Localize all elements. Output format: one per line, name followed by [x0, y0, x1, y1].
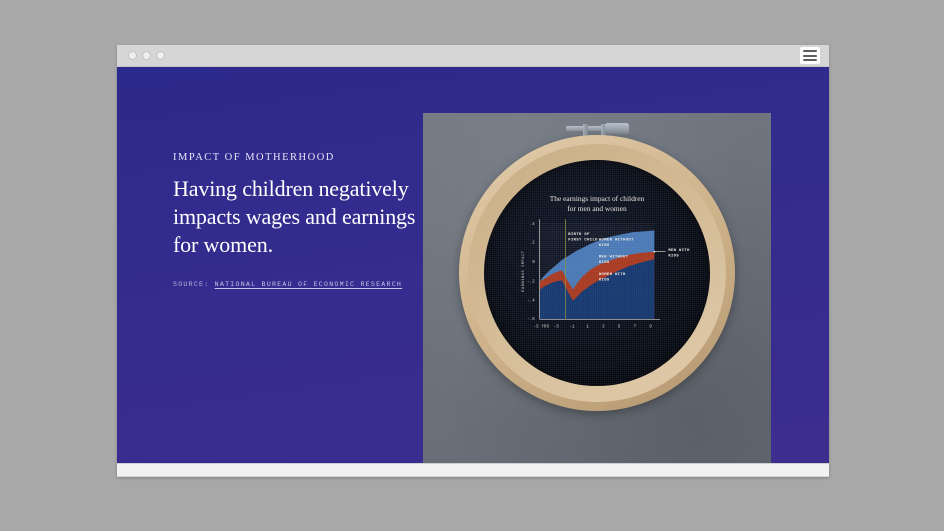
close-icon[interactable] [128, 51, 137, 60]
annotation-women-without-kids-line1: WOMEN WITHOUT [599, 239, 634, 243]
x-tick-label: -3 [554, 326, 560, 330]
y-tick-label: -.2 [527, 280, 535, 284]
y-tick-label: -.4 [527, 300, 535, 304]
x-tick-label: 5 [618, 326, 621, 330]
slide-canvas: IMPACT OF MOTHERHOOD Having children neg… [117, 67, 829, 463]
embroidery-photo: The earnings impact of children for men … [423, 113, 771, 463]
annotation-birth-of-first-child-line2: FIRST CHILD [568, 239, 598, 243]
browser-toolbar [117, 45, 829, 67]
annotation-women-with-kids-line1: WOMEN WITH [599, 273, 626, 277]
x-tick-label: -1 [569, 326, 575, 330]
x-tick-label: 3 [602, 326, 605, 330]
chart-plot-area [540, 223, 655, 319]
window-controls [128, 51, 165, 60]
earnings-impact-chart: .4 .2 0 -.2 -.4 -.6 EARNINGS IMPACT -5 Y… [484, 160, 710, 386]
cross-stitch-fabric: The earnings impact of children for men … [484, 160, 710, 386]
hoop-screw [605, 123, 629, 134]
annotation-birth-of-first-child-line1: BIRTH OF [568, 233, 590, 237]
source-link[interactable]: NATIONAL BUREAU OF ECONOMIC RESEARCH [215, 281, 402, 288]
y-tick-label: .4 [530, 223, 536, 227]
slide-eyebrow: IMPACT OF MOTHERHOOD [173, 152, 418, 163]
embroidery-hoop-ring: The earnings impact of children for men … [459, 135, 735, 411]
maximize-icon[interactable] [156, 51, 165, 60]
hamburger-line [803, 50, 817, 52]
y-tick-label: 0 [532, 261, 535, 265]
embroidery-hoop-inner-ring: The earnings impact of children for men … [468, 144, 726, 402]
annotation-men-with-kids-line1: MEN WITH [668, 249, 690, 253]
hamburger-menu-icon[interactable] [800, 47, 820, 64]
stitch-texture [540, 223, 655, 319]
browser-footer-bar [117, 463, 829, 476]
page-title: Having children negatively impacts wages… [173, 175, 418, 259]
annotation-men-without-kids-line1: MEN WITHOUT [599, 255, 629, 259]
x-tick-label: -5 YRS [534, 326, 550, 330]
hamburger-line [803, 55, 817, 57]
annotation-men-without-kids-line2: KIDS [599, 261, 610, 265]
y-tick-label: .2 [530, 241, 536, 245]
source-prefix: SOURCE: [173, 281, 209, 288]
y-axis-label: EARNINGS IMPACT [522, 251, 526, 292]
minimize-icon[interactable] [142, 51, 151, 60]
source-credit: SOURCE: NATIONAL BUREAU OF ECONOMIC RESE… [173, 281, 418, 288]
slide-text-block: IMPACT OF MOTHERHOOD Having children neg… [173, 152, 418, 288]
annotation-women-with-kids-line2: KIDS [599, 278, 610, 282]
annotation-men-with-kids-line2: KIDS [668, 254, 679, 258]
hamburger-line [803, 59, 817, 61]
x-tick-label: 7 [634, 326, 637, 330]
y-tick-label: -.6 [527, 318, 535, 322]
x-tick-label: 1 [586, 326, 589, 330]
x-tick-label: 9 [649, 326, 652, 330]
screen: IMPACT OF MOTHERHOOD Having children neg… [0, 0, 944, 531]
annotation-women-without-kids-line2: KIDS [599, 244, 610, 248]
leader-dot-men-with-kids [654, 251, 656, 253]
browser-window: IMPACT OF MOTHERHOOD Having children neg… [117, 45, 829, 477]
